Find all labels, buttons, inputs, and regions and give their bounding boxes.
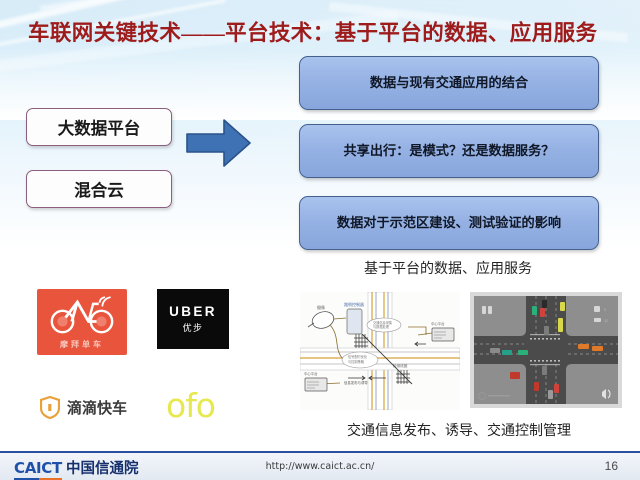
svg-text:路侧控制器: 路侧控制器 bbox=[344, 301, 364, 307]
slide-canvas: 车联网关键技术——平台技术：基于平台的数据、应用服务 大数据平台 混合云 数据与… bbox=[0, 0, 640, 480]
traffic-simulation-image: 312 bbox=[470, 292, 622, 408]
didi-brand-label: 滴滴快车 bbox=[67, 397, 127, 418]
didi-logo: 滴滴快车 bbox=[40, 394, 155, 420]
mobike-logo: 摩拜单车 bbox=[37, 289, 127, 355]
box-hybrid-cloud[interactable]: 混合云 bbox=[26, 170, 172, 208]
box-demo-zone-impact[interactable]: 数据对于示范区建设、测试验证的影响 bbox=[299, 196, 599, 250]
svg-text:摄像: 摄像 bbox=[317, 304, 325, 310]
mobike-brand-label: 摩拜单车 bbox=[37, 339, 127, 350]
uber-wordmark: UBER bbox=[169, 304, 217, 319]
ofo-logo: ofo bbox=[166, 388, 256, 424]
svg-text:信号配时优化: 信号配时优化 bbox=[348, 354, 368, 359]
svg-text:中心平台: 中心平台 bbox=[304, 371, 318, 376]
footer-url[interactable]: http://www.caict.ac.cn/ bbox=[0, 461, 640, 472]
right-arrow-icon bbox=[186, 114, 252, 172]
box-data-integration[interactable]: 数据与现有交通应用的结合 bbox=[299, 56, 599, 110]
shield-icon bbox=[40, 396, 60, 419]
caption-platform-services: 基于平台的数据、应用服务 bbox=[299, 258, 597, 278]
svg-text:3: 3 bbox=[604, 308, 606, 312]
page-number: 16 bbox=[605, 459, 618, 473]
uber-chinese-label: 优步 bbox=[183, 321, 204, 334]
svg-text:与数据处理: 与数据处理 bbox=[373, 324, 390, 329]
svg-text:与控制策略: 与控制策略 bbox=[348, 359, 365, 364]
box-shared-mobility[interactable]: 共享出行：是模式？还是数据服务？ bbox=[299, 124, 599, 178]
svg-text:中心平台: 中心平台 bbox=[431, 321, 445, 326]
uber-logo: UBER 优步 bbox=[157, 289, 229, 349]
intersection-diagram-image: 摄像 路侧控制器 检测线圈 交通信息采集 与数据处理 信号配 bbox=[300, 292, 460, 410]
svg-text:12: 12 bbox=[604, 319, 608, 323]
bicycle-icon bbox=[37, 289, 127, 341]
caption-traffic-management: 交通信息发布、诱导、交通控制管理 bbox=[299, 420, 619, 440]
box-big-data-platform[interactable]: 大数据平台 bbox=[26, 108, 172, 146]
svg-text:信息发布与诱导: 信息发布与诱导 bbox=[344, 380, 368, 385]
slide-title: 车联网关键技术——平台技术：基于平台的数据、应用服务 bbox=[28, 16, 624, 47]
